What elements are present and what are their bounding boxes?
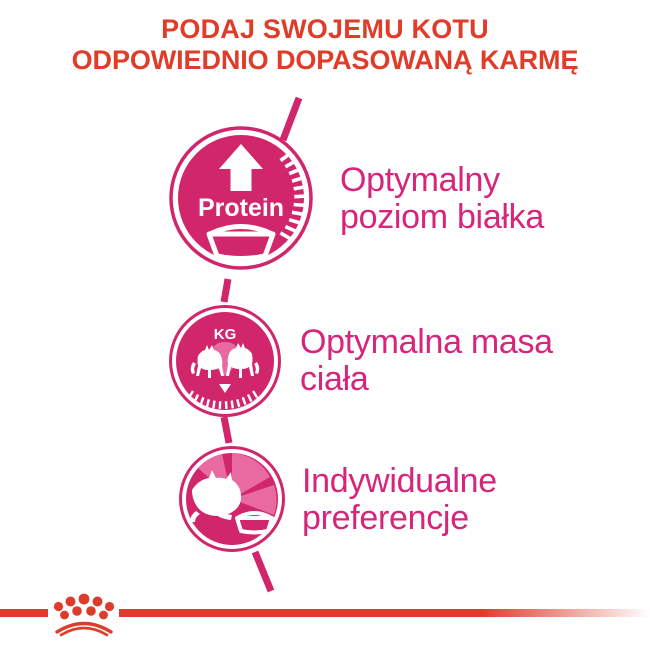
footer-rule-right bbox=[119, 609, 650, 617]
footer bbox=[0, 590, 650, 650]
footer-rule-left bbox=[0, 609, 48, 617]
cat-eating-bowl-icon bbox=[178, 445, 286, 553]
kg-label: KG bbox=[214, 326, 237, 343]
cat-weight-scale-icon: KG bbox=[168, 304, 282, 418]
feature-label-preferences: Indywidualne preferencje bbox=[302, 463, 497, 537]
headline-line-1: PODAJ SWOJEMU KOTU bbox=[0, 14, 650, 45]
feature-row-body-weight: KG bbox=[168, 304, 553, 418]
connector-dash-1-2 bbox=[224, 279, 228, 302]
connector-dash-2-3 bbox=[224, 417, 229, 443]
connector-dash-bottom bbox=[255, 552, 271, 591]
feature-row-protein: Protein Optymalny poziom białka bbox=[168, 125, 544, 271]
feature-label-body-weight: Optymalna masa ciała bbox=[300, 324, 553, 398]
feature-label-protein: Optymalny poziom białka bbox=[340, 162, 544, 236]
headline-line-2: ODPOWIEDNIO DOPASOWANĄ KARMĘ bbox=[0, 45, 650, 76]
feature-row-preferences: Indywidualne preferencje bbox=[178, 445, 497, 553]
royal-canin-crown-icon bbox=[48, 590, 120, 638]
protein-bowl-gauge-icon: Protein bbox=[168, 125, 314, 271]
protein-label: Protein bbox=[198, 194, 284, 222]
page-title: PODAJ SWOJEMU KOTU ODPOWIEDNIO DOPASOWAN… bbox=[0, 14, 650, 76]
poster-canvas: PODAJ SWOJEMU KOTU ODPOWIEDNIO DOPASOWAN… bbox=[0, 0, 650, 650]
